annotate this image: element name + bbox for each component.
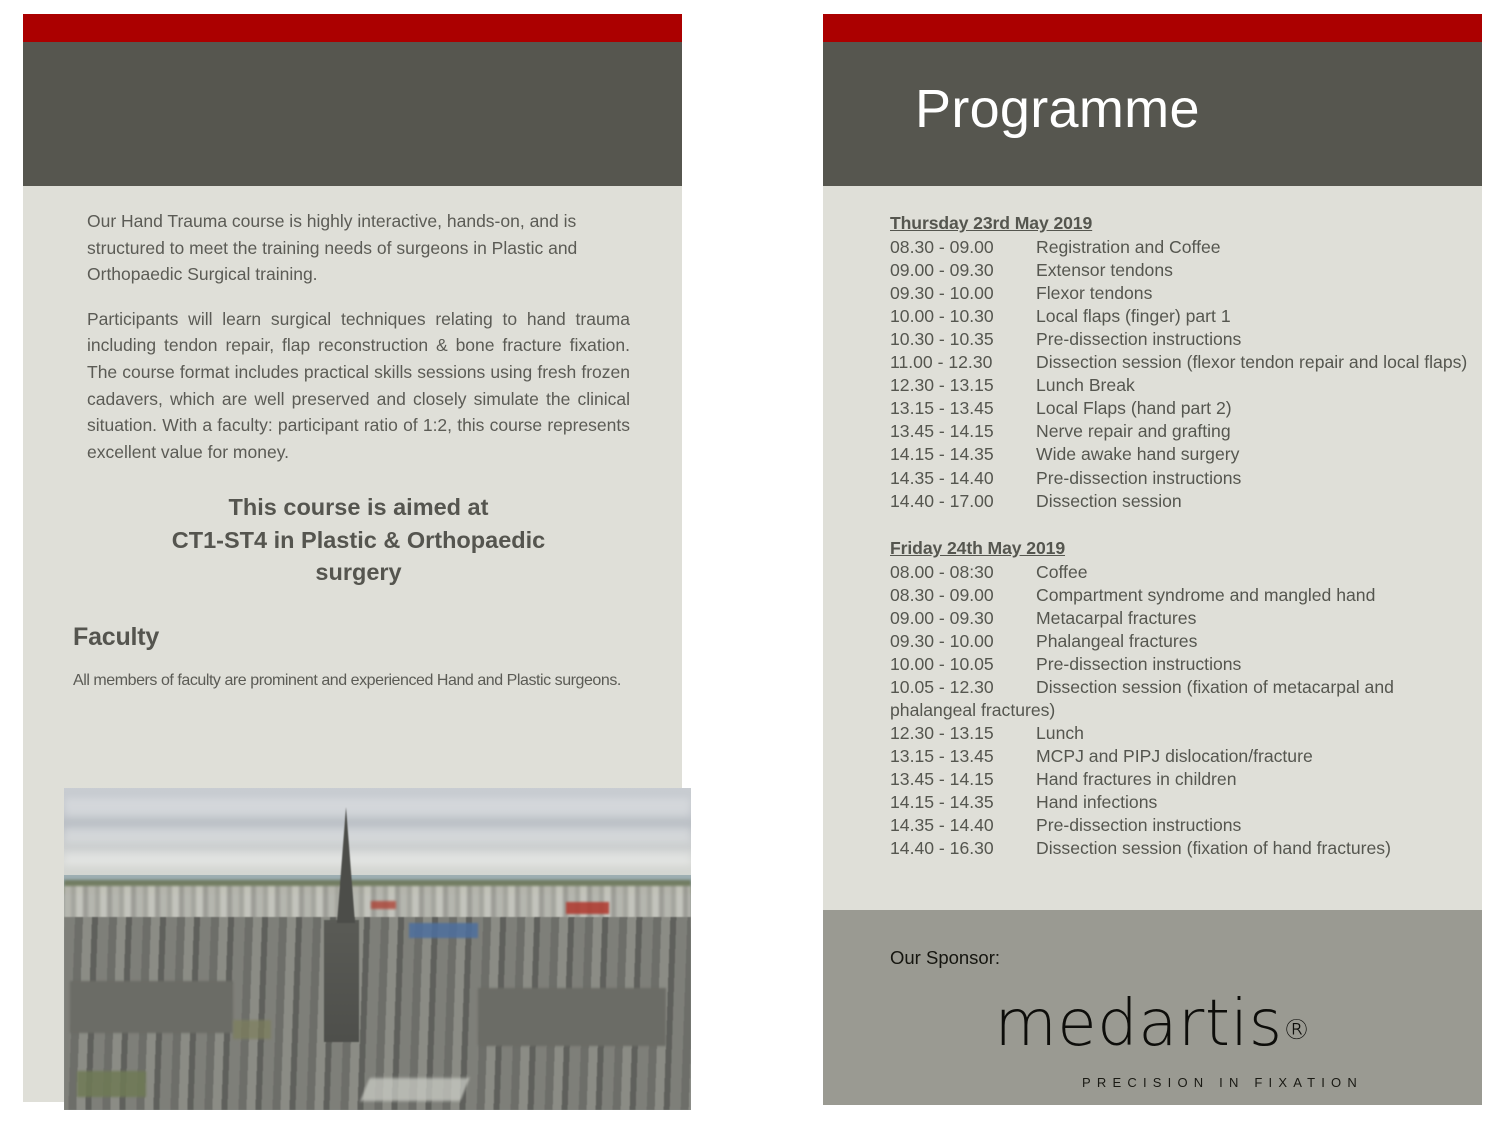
schedule-row: 14.40 - 17.00Dissection session (890, 490, 1468, 513)
schedule-description: Wide awake hand surgery (1036, 444, 1239, 464)
photo-church-spire (337, 807, 355, 923)
schedule-row: 10.00 - 10.30Local flaps (finger) part 1 (890, 305, 1468, 328)
schedule-row: 13.45 - 14.15Hand fractures in children (890, 768, 1468, 791)
schedule-row: 13.15 - 13.45Local Flaps (hand part 2) (890, 397, 1468, 420)
schedule-description: Local Flaps (hand part 2) (1036, 398, 1232, 418)
schedule-time: 13.45 - 14.15 (890, 420, 1036, 443)
schedule-time: 08.30 - 09.00 (890, 236, 1036, 259)
sponsor-logo-tagline: PRECISION IN FIXATION (823, 1075, 1482, 1090)
photo-cloud (64, 827, 691, 843)
schedule-description: Local flaps (finger) part 1 (1036, 306, 1231, 326)
schedule-description: Dissection session (flexor tendon repair… (1036, 352, 1467, 372)
schedule-description: Registration and Coffee (1036, 237, 1221, 257)
schedule-row: 10.00 - 10.05Pre-dissection instructions (890, 653, 1468, 676)
schedule-time: 13.15 - 13.45 (890, 745, 1036, 768)
schedule-time: 11.00 - 12.30 (890, 351, 1036, 374)
schedule-time: 12.30 - 13.15 (890, 722, 1036, 745)
photo-content (64, 788, 691, 1110)
schedule-description: Pre-dissection instructions (1036, 329, 1241, 349)
sponsor-band: Our Sponsor: medartis® PRECISION IN FIXA… (823, 910, 1482, 1105)
schedule-day-heading: Thursday 23rd May 2019 (890, 212, 1468, 235)
faculty-description: All members of faculty are prominent and… (73, 668, 630, 694)
schedule-row: 13.15 - 13.45MCPJ and PIPJ dislocation/f… (890, 745, 1468, 768)
faculty-heading: Faculty (73, 623, 630, 652)
audience-line-2: CT1-ST4 in Plastic & Orthopaedic (95, 524, 622, 556)
schedule-description: Hand fractures in children (1036, 769, 1236, 789)
schedule-time: 14.35 - 14.40 (890, 467, 1036, 490)
audience-line-1: This course is aimed at (95, 491, 622, 523)
schedule-row: 14.35 - 14.40Pre-dissection instructions (890, 814, 1468, 837)
schedule-row: 14.35 - 14.40Pre-dissection instructions (890, 467, 1468, 490)
schedule-row: 09.30 - 10.00Flexor tendons (890, 282, 1468, 305)
schedule-description: Dissection session (1036, 491, 1182, 511)
schedule-row: 11.00 - 12.30Dissection session (flexor … (890, 351, 1468, 374)
photo-blue-roof-building (409, 923, 478, 937)
schedule-description: Hand infections (1036, 792, 1157, 812)
schedule-time: 08.00 - 08:30 (890, 561, 1036, 584)
schedule-row: 08.30 - 09.00Compartment syndrome and ma… (890, 584, 1468, 607)
schedule-row: 10.05 - 12.30Dissection session (fixatio… (890, 676, 1468, 722)
sponsor-label: Our Sponsor: (890, 947, 1000, 969)
photo-street (360, 1078, 469, 1101)
schedule-time: 09.00 - 09.30 (890, 607, 1036, 630)
schedule-row: 08.00 - 08:30Coffee (890, 561, 1468, 584)
schedule-description: MCPJ and PIPJ dislocation/fracture (1036, 746, 1313, 766)
photo-rooftop (70, 981, 233, 1033)
photo-cloud (64, 852, 691, 865)
schedule-day-separator (890, 513, 1468, 537)
course-audience-heading: This course is aimed at CT1-ST4 in Plast… (87, 491, 630, 588)
schedule-row: 09.00 - 09.30Metacarpal fractures (890, 607, 1468, 630)
schedule-row: 13.45 - 14.15Nerve repair and grafting (890, 420, 1468, 443)
schedule-row: 09.30 - 10.00Phalangeal fractures (890, 630, 1468, 653)
photo-cloud (64, 798, 691, 817)
schedule-time: 08.30 - 09.00 (890, 584, 1036, 607)
left-page-red-accent-bar (23, 14, 682, 42)
schedule-description: Lunch Break (1036, 375, 1135, 395)
schedule-time: 09.00 - 09.30 (890, 259, 1036, 282)
schedule-time: 10.00 - 10.30 (890, 305, 1036, 328)
photo-harbour-vessel (371, 901, 396, 909)
intro-paragraph-2: Participants will learn surgical techniq… (87, 306, 630, 466)
programme-title: Programme (915, 78, 1200, 140)
right-page-red-accent-bar (823, 14, 1482, 42)
schedule-description: Pre-dissection instructions (1036, 654, 1241, 674)
schedule-time: 14.15 - 14.35 (890, 443, 1036, 466)
audience-line-3: surgery (95, 556, 622, 588)
photo-green-space (233, 1020, 271, 1039)
schedule-description: Extensor tendons (1036, 260, 1173, 280)
schedule-time: 09.30 - 10.00 (890, 282, 1036, 305)
registered-trademark-icon: ® (1283, 1016, 1311, 1044)
schedule-time: 14.40 - 16.30 (890, 837, 1036, 860)
intro-paragraph-1: Our Hand Trauma course is highly interac… (87, 208, 630, 288)
schedule-time: 14.15 - 14.35 (890, 791, 1036, 814)
schedule-time: 10.00 - 10.05 (890, 653, 1036, 676)
schedule-day-heading: Friday 24th May 2019 (890, 537, 1468, 560)
schedule-row: 12.30 - 13.15Lunch Break (890, 374, 1468, 397)
schedule-time: 13.45 - 14.15 (890, 768, 1036, 791)
programme-schedule: Thursday 23rd May 201908.30 - 09.00Regis… (823, 186, 1482, 860)
schedule-row: 14.15 - 14.35Wide awake hand surgery (890, 443, 1468, 466)
schedule-description: Nerve repair and grafting (1036, 421, 1231, 441)
schedule-description: Lunch (1036, 723, 1084, 743)
schedule-time: 14.35 - 14.40 (890, 814, 1036, 837)
schedule-description: Flexor tendons (1036, 283, 1152, 303)
sponsor-logo-wordmark: medartis (994, 992, 1282, 1056)
schedule-row: 14.15 - 14.35Hand infections (890, 791, 1468, 814)
schedule-row: 08.30 - 09.00Registration and Coffee (890, 236, 1468, 259)
schedule-description: Pre-dissection instructions (1036, 815, 1241, 835)
photo-rooftop (478, 988, 666, 1046)
schedule-description: Pre-dissection instructions (1036, 468, 1241, 488)
left-page-body: Our Hand Trauma course is highly interac… (23, 186, 682, 694)
sponsor-logo: medartis® PRECISION IN FIXATION (823, 992, 1482, 1090)
schedule-time: 09.30 - 10.00 (890, 630, 1036, 653)
right-page-header-band: Programme (823, 42, 1482, 186)
schedule-row: 10.30 - 10.35Pre-dissection instructions (890, 328, 1468, 351)
schedule-description: Metacarpal fractures (1036, 608, 1196, 628)
schedule-row: 12.30 - 13.15Lunch (890, 722, 1468, 745)
photo-green-space (77, 1071, 146, 1097)
left-page: Our Hand Trauma course is highly interac… (23, 14, 682, 1102)
photo-harbour-vessel (566, 902, 610, 913)
schedule-time: 10.30 - 10.35 (890, 328, 1036, 351)
photo-church-tower (324, 920, 358, 1042)
schedule-description: Coffee (1036, 562, 1088, 582)
schedule-description: Phalangeal fractures (1036, 631, 1197, 651)
right-page: Programme Thursday 23rd May 201908.30 - … (823, 14, 1482, 1105)
schedule-time: 12.30 - 13.15 (890, 374, 1036, 397)
schedule-row: 14.40 - 16.30Dissection session (fixatio… (890, 837, 1468, 860)
schedule-description: Compartment syndrome and mangled hand (1036, 585, 1375, 605)
schedule-time: 10.05 - 12.30 (890, 676, 1036, 699)
schedule-description: Dissection session (fixation of hand fra… (1036, 838, 1391, 858)
schedule-time: 13.15 - 13.45 (890, 397, 1036, 420)
schedule-time: 14.40 - 17.00 (890, 490, 1036, 513)
city-aerial-photo (64, 788, 691, 1110)
schedule-row: 09.00 - 09.30Extensor tendons (890, 259, 1468, 282)
left-page-header-band (23, 42, 682, 186)
